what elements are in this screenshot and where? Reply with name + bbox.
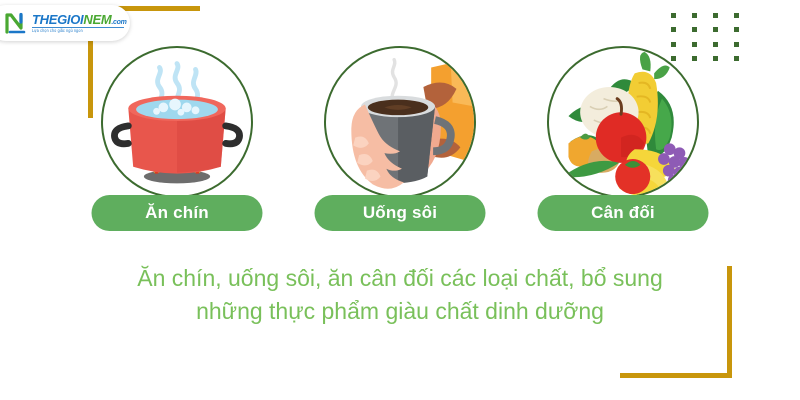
card-label: Cân đối: [591, 203, 655, 223]
grid-dot: [692, 13, 697, 18]
brand-text-block: THEGIOINEM.com Lựa chọn cho giấc ngủ ngo…: [32, 13, 127, 34]
brand-name-suffix: .com: [111, 19, 126, 26]
feature-cards-row: Ăn chín: [0, 46, 800, 231]
card-label-pill: Uống sôi: [315, 195, 486, 231]
brand-name-part1: THEGIOI: [32, 12, 83, 27]
caption-line-2: những thực phẩm giàu chất dinh dưỡng: [0, 295, 800, 328]
feature-card-uong-soi[interactable]: Uống sôi: [303, 46, 498, 231]
feature-card-can-doi[interactable]: Cân đối: [526, 46, 721, 231]
caption-text: Ăn chín, uống sôi, ăn cân đối các loại c…: [0, 262, 800, 329]
grid-dot: [692, 27, 697, 32]
bracket-horizontal-line: [620, 373, 732, 378]
circle-frame: [101, 46, 253, 198]
grid-dot: [713, 13, 718, 18]
grid-dot: [671, 27, 676, 32]
brand-underline: [32, 27, 124, 28]
card-label: Ăn chín: [145, 203, 209, 223]
card-label: Uống sôi: [363, 203, 437, 223]
caption-line-1: Ăn chín, uống sôi, ăn cân đối các loại c…: [0, 262, 800, 295]
grid-dot: [713, 27, 718, 32]
circle-frame: [324, 46, 476, 198]
feature-card-an-chin[interactable]: Ăn chín: [80, 46, 275, 231]
boiling-pot-icon: [103, 48, 251, 196]
card-label-pill: Ăn chín: [92, 195, 263, 231]
grid-dot: [734, 27, 739, 32]
brand-wordmark: THEGIOINEM.com: [32, 13, 127, 26]
brand-logo[interactable]: THEGIOINEM.com Lựa chọn cho giấc ngủ ngo…: [0, 5, 130, 41]
card-label-pill: Cân đối: [538, 195, 709, 231]
grid-dot: [671, 13, 676, 18]
brand-tagline: Lựa chọn cho giấc ngủ ngon: [32, 29, 127, 33]
hands-holding-hot-mug-icon: [326, 48, 474, 196]
circle-frame: [547, 46, 699, 198]
poster-canvas: THEGIOINEM.com Lựa chọn cho giấc ngủ ngo…: [0, 0, 800, 400]
grid-dot: [734, 13, 739, 18]
fruits-vegetables-icon: [549, 48, 697, 196]
n-letter-logo-icon: [4, 11, 28, 35]
brand-name-part2: NEM: [83, 12, 111, 27]
